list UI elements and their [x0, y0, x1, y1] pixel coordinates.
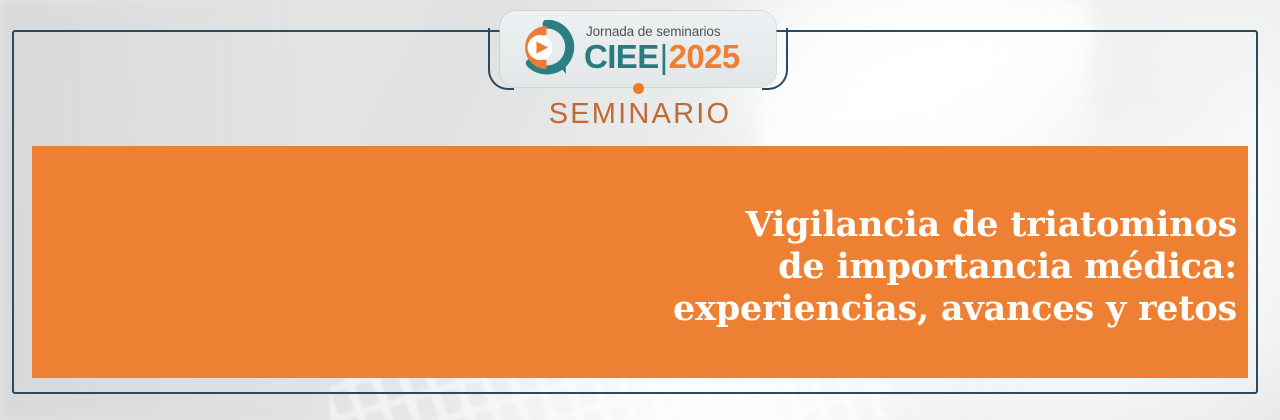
logo-badge: Jornada de seminarios CIEE|2025 [500, 11, 776, 87]
section-label: SEMINARIO [0, 98, 1280, 131]
logo-acronym: CIEE [584, 38, 659, 75]
orange-dot-icon [633, 83, 644, 94]
title-panel: Vigilancia de triatominos de importancia… [32, 146, 1248, 378]
seminar-banner: Jornada de seminarios CIEE|2025 SEMINARI… [0, 0, 1280, 420]
logo-lockup: CIEE|2025 [584, 40, 740, 73]
seminar-title-line-2: de importancia médica: [673, 246, 1237, 288]
logo-kicker: Jornada de seminarios [584, 25, 740, 39]
seminar-title-line-3: experiencias, avances y retos [673, 288, 1237, 330]
seminar-title-line-1: Vigilancia de triatominos [673, 204, 1237, 246]
logo-year: 2025 [669, 38, 740, 75]
logo-separator: | [659, 38, 669, 75]
logo-wordmark: Jornada de seminarios CIEE|2025 [584, 25, 740, 73]
ciee-speech-bubble-play-logo [516, 20, 578, 78]
seminar-title: Vigilancia de triatominos de importancia… [673, 204, 1237, 330]
